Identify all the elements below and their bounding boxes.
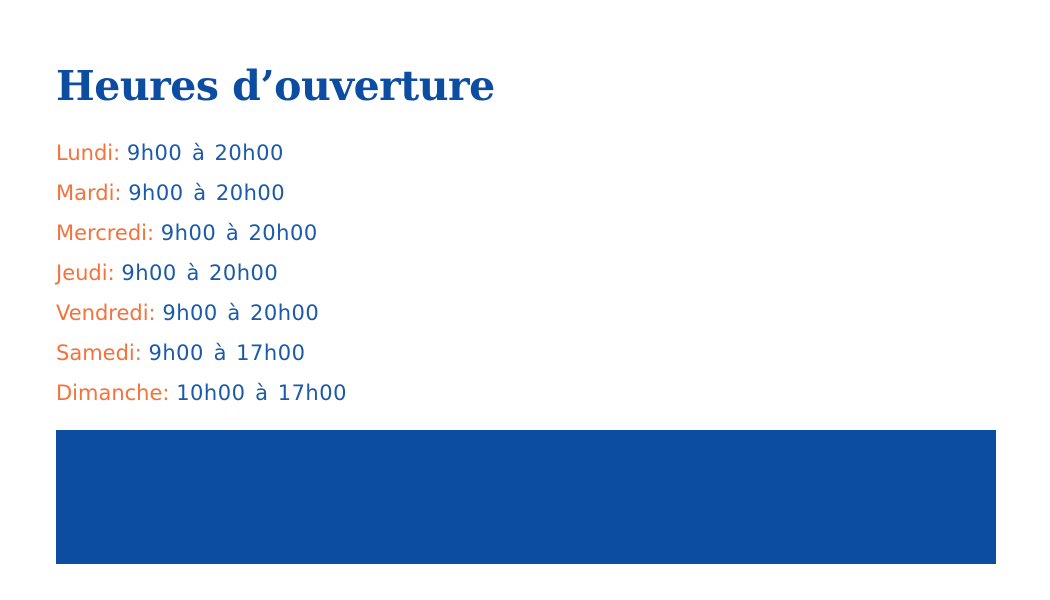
list-item: Samedi: 9h00 à 17h00 bbox=[56, 333, 756, 373]
day-label: Dimanche: bbox=[56, 381, 170, 405]
time-separator: à bbox=[189, 141, 208, 165]
day-label: Mercredi: bbox=[56, 221, 154, 245]
open-time: 9h00 bbox=[128, 181, 183, 205]
open-time: 9h00 bbox=[121, 261, 176, 285]
open-time: 9h00 bbox=[162, 301, 217, 325]
open-time: 9h00 bbox=[127, 141, 182, 165]
day-label: Samedi: bbox=[56, 341, 142, 365]
time-separator: à bbox=[252, 381, 271, 405]
open-time: 9h00 bbox=[161, 221, 216, 245]
close-time: 17h00 bbox=[278, 381, 347, 405]
open-time: 10h00 bbox=[176, 381, 245, 405]
list-item: Vendredi: 9h00 à 20h00 bbox=[56, 293, 756, 333]
time-separator: à bbox=[211, 341, 230, 365]
time-separator: à bbox=[224, 301, 243, 325]
close-time: 20h00 bbox=[248, 221, 317, 245]
list-item: Lundi: 9h00 à 20h00 bbox=[56, 133, 756, 173]
time-separator: à bbox=[183, 261, 202, 285]
time-separator: à bbox=[190, 181, 209, 205]
day-label: Jeudi: bbox=[56, 261, 115, 285]
time-separator: à bbox=[223, 221, 242, 245]
list-item: Dimanche: 10h00 à 17h00 bbox=[56, 373, 756, 413]
close-time: 20h00 bbox=[209, 261, 278, 285]
blue-banner-block bbox=[56, 430, 996, 564]
list-item: Mercredi: 9h00 à 20h00 bbox=[56, 213, 756, 253]
day-label: Lundi: bbox=[56, 141, 120, 165]
close-time: 20h00 bbox=[216, 181, 285, 205]
close-time: 20h00 bbox=[215, 141, 284, 165]
page-title: Heures d’ouverture bbox=[56, 62, 495, 110]
open-time: 9h00 bbox=[149, 341, 204, 365]
list-item: Mardi: 9h00 à 20h00 bbox=[56, 173, 756, 213]
list-item: Jeudi: 9h00 à 20h00 bbox=[56, 253, 756, 293]
day-label: Vendredi: bbox=[56, 301, 156, 325]
opening-hours-list: Lundi: 9h00 à 20h00 Mardi: 9h00 à 20h00 … bbox=[56, 133, 756, 413]
close-time: 20h00 bbox=[250, 301, 319, 325]
slide-canvas: Heures d’ouverture Lundi: 9h00 à 20h00 M… bbox=[0, 0, 1050, 600]
day-label: Mardi: bbox=[56, 181, 122, 205]
close-time: 17h00 bbox=[236, 341, 305, 365]
